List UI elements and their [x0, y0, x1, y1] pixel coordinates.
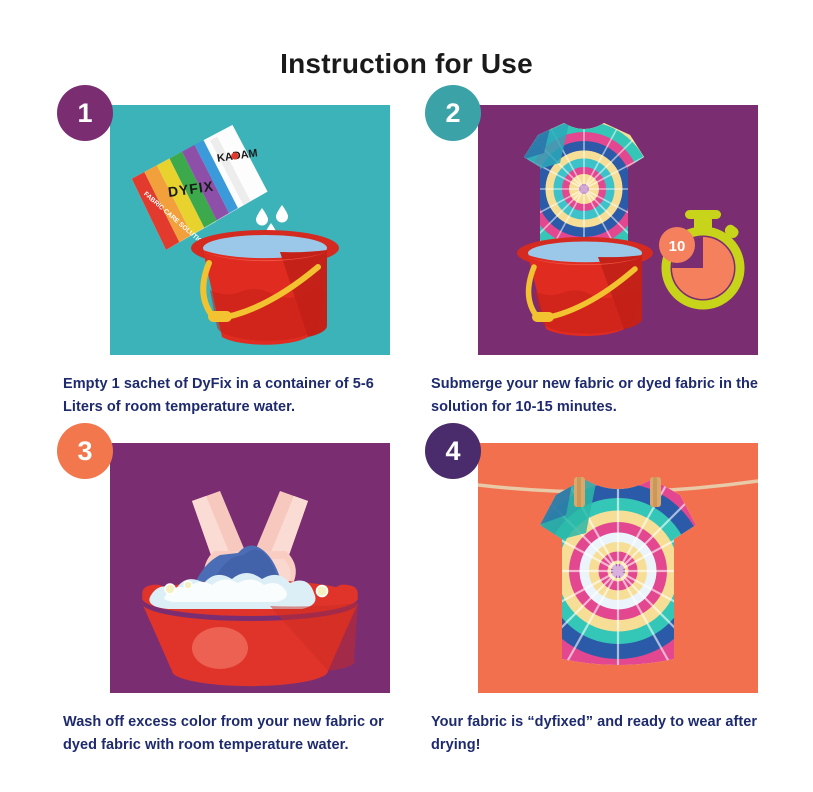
step-3-badge: 3: [57, 423, 113, 479]
step-4-badge: 4: [425, 423, 481, 479]
submerge-shirt-illustration: 10: [478, 105, 758, 355]
drying-shirt-illustration: [478, 443, 758, 693]
sachet-pouring-illustration: KADAM DYFIX FABRIC CARE SOLUTION: [110, 105, 390, 355]
basin-icon: [142, 573, 358, 686]
step-1-illustration-panel: KADAM DYFIX FABRIC CARE SOLUTION: [110, 105, 390, 355]
step-1-caption: Empty 1 sachet of DyFix in a container o…: [63, 373, 415, 420]
step-4-number: 4: [445, 436, 460, 467]
page-title: Instruction for Use: [0, 48, 813, 80]
step-3-caption: Wash off excess color from your new fabr…: [63, 711, 415, 758]
step-2-illustration-panel: 10: [478, 105, 758, 355]
step-3-number: 3: [77, 436, 92, 467]
bucket-icon: [191, 230, 339, 345]
hands-washing-illustration: [110, 443, 390, 693]
clothespin-icon: [650, 477, 661, 507]
infographic-page: Instruction for Use: [0, 0, 813, 792]
step-1-badge: 1: [57, 85, 113, 141]
tiedye-shirt-icon: [510, 463, 726, 679]
step-2-caption: Submerge your new fabric or dyed fabric …: [431, 373, 783, 420]
step-3-illustration-panel: [110, 443, 390, 693]
bucket-icon: [517, 237, 653, 336]
step-4-caption: Your fabric is “dyfixed” and ready to we…: [431, 711, 783, 758]
stopwatch-icon: 10: [659, 210, 741, 305]
timer-value-text: 10: [669, 238, 686, 255]
step-2-badge: 2: [425, 85, 481, 141]
step-2-number: 2: [445, 98, 460, 129]
step-1-number: 1: [77, 98, 92, 129]
step-4-illustration-panel: [478, 443, 758, 693]
clothespin-icon: [574, 477, 585, 507]
